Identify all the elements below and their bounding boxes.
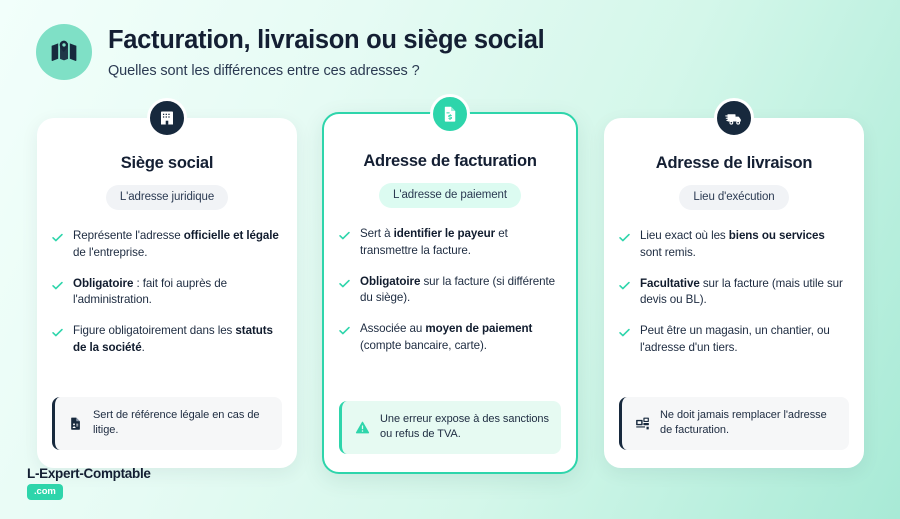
page-title: Facturation, livraison ou siège social [108,26,544,55]
store-transfer-icon [635,416,650,431]
card-title: Adresse de livraison [604,154,864,173]
bullet-text: Peut être un magasin, un chantier, ou l'… [640,323,848,357]
card-title: Siège social [37,154,297,173]
bullet-text: Obligatoire : fait foi auprès de l'admin… [73,276,281,310]
list-item: Figure obligatoirement dans les statuts … [51,323,281,357]
bullet-text: Figure obligatoirement dans les statuts … [73,323,281,357]
check-icon [338,324,351,337]
card-note: Une erreur expose à des sanctions ou ref… [339,401,561,454]
list-item: Lieu exact où les biens ou services sont… [618,228,848,262]
page-subtitle: Quelles sont les différences entre ces a… [108,63,544,79]
card-badge: L'adresse juridique [106,185,228,210]
check-icon [51,279,64,292]
check-icon [51,231,64,244]
list-item: Obligatoire : fait foi auprès de l'admin… [51,276,281,310]
legal-document-icon [68,416,83,431]
note-text: Une erreur expose à des sanctions ou ref… [380,412,549,443]
bullet-text: Associée au moyen de paiement (compte ba… [360,321,560,355]
list-item: Facultative sur la facture (mais utile s… [618,276,848,310]
card-adresse-facturation[interactable]: Adresse de facturation L'adresse de paie… [322,112,578,474]
logo-dotcom-badge: .com [27,484,63,500]
invoice-dollar-icon [430,94,470,134]
card-note: Ne doit jamais remplacer l'adresse de fa… [619,397,849,450]
check-icon [338,277,351,290]
map-location-icon [36,24,92,80]
check-icon [618,231,631,244]
list-item: Obligatoire sur la facture (si différent… [338,274,560,308]
check-icon [51,326,64,339]
card-badge: Lieu d'exécution [679,185,788,210]
note-text: Ne doit jamais remplacer l'adresse de fa… [660,408,837,439]
bullet-text: Facultative sur la facture (mais utile s… [640,276,848,310]
brand-logo: L-Expert-Comptable .com [27,466,151,500]
infographic-poster: Facturation, livraison ou siège social Q… [0,0,900,519]
office-building-icon [147,98,187,138]
warning-triangle-icon [355,420,370,435]
card-adresse-livraison[interactable]: Adresse de livraison Lieu d'exécution Li… [604,118,864,468]
poster-header: Facturation, livraison ou siège social Q… [36,24,544,80]
bullet-text: Représente l'adresse officielle et légal… [73,228,281,262]
logo-name: L-Expert-Comptable [27,466,151,481]
bullet-text: Sert à identifier le payeur et transmett… [360,226,560,260]
list-item: Associée au moyen de paiement (compte ba… [338,321,560,355]
bullet-list: Sert à identifier le payeur et transmett… [338,226,560,355]
bullet-text: Lieu exact où les biens ou services sont… [640,228,848,262]
check-icon [338,229,351,242]
delivery-truck-icon [714,98,754,138]
check-icon [618,326,631,339]
card-siege-social[interactable]: Siège social L'adresse juridique Représe… [37,118,297,468]
bullet-list: Représente l'adresse officielle et légal… [51,228,281,357]
note-text: Sert de référence légale en cas de litig… [93,408,270,439]
card-note: Sert de référence légale en cas de litig… [52,397,282,450]
list-item: Sert à identifier le payeur et transmett… [338,226,560,260]
card-row: Siège social L'adresse juridique Représe… [0,118,900,473]
check-icon [618,279,631,292]
card-badge: L'adresse de paiement [379,183,521,208]
list-item: Représente l'adresse officielle et légal… [51,228,281,262]
card-title: Adresse de facturation [324,152,576,171]
bullet-list: Lieu exact où les biens ou services sont… [618,228,848,357]
list-item: Peut être un magasin, un chantier, ou l'… [618,323,848,357]
bullet-text: Obligatoire sur la facture (si différent… [360,274,560,308]
